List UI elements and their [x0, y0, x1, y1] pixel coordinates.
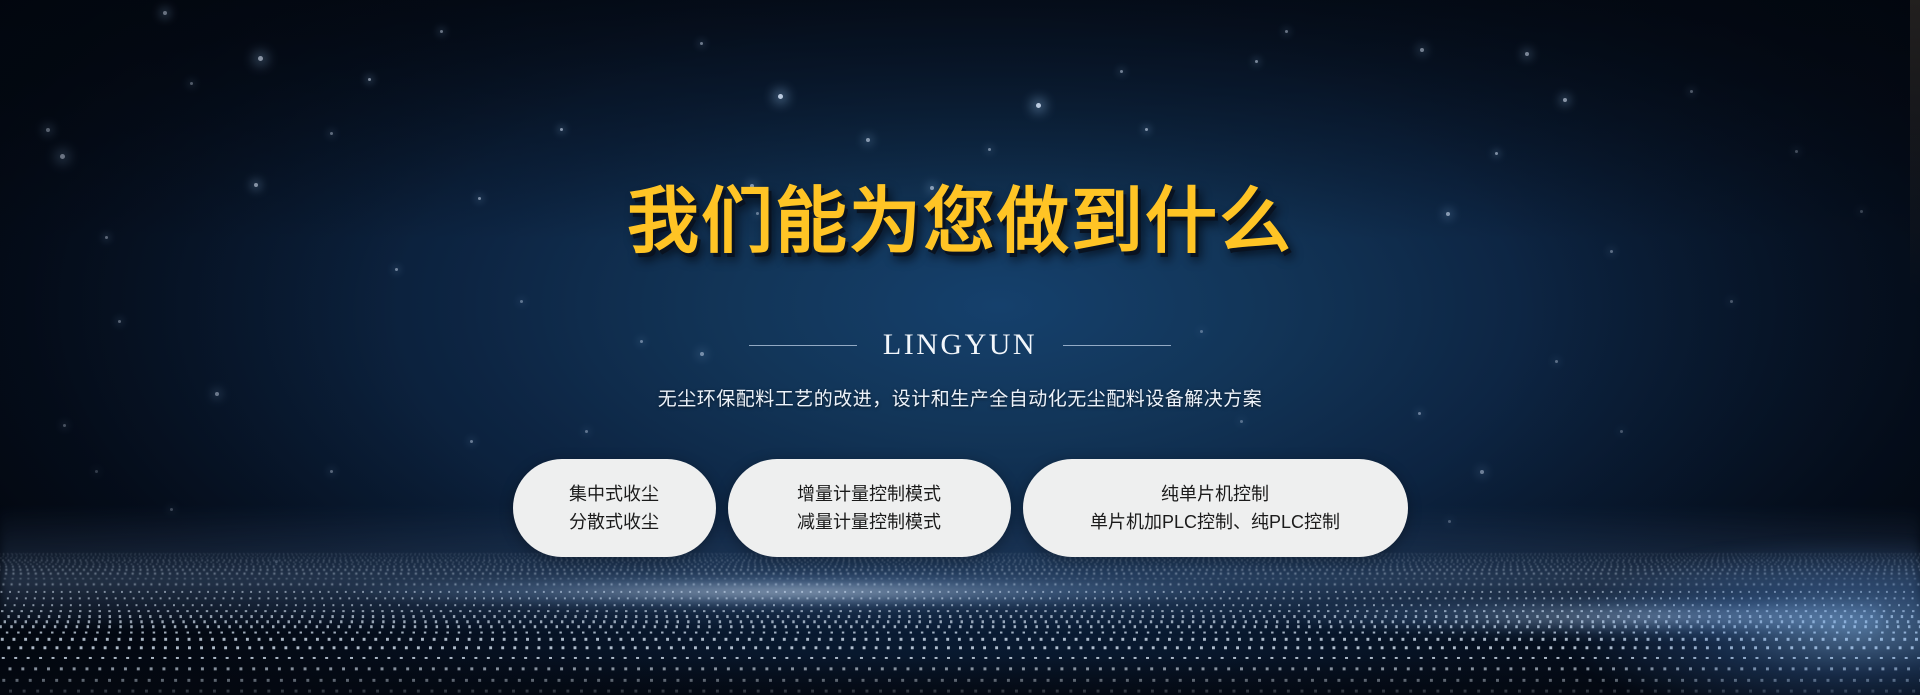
brand-name: LINGYUN — [883, 328, 1037, 362]
card-line: 分散式收尘 — [569, 513, 659, 531]
divider-line-right — [1063, 345, 1171, 346]
feature-card-metering-mode[interactable]: 增量计量控制模式 减量计量控制模式 — [728, 459, 1011, 557]
banner-content: 我们能为您做到什么 LINGYUN 无尘环保配料工艺的改进，设计和生产全自动化无… — [0, 0, 1920, 695]
brand-row: LINGYUN — [749, 328, 1171, 362]
card-line: 纯单片机控制 — [1161, 485, 1269, 503]
tagline: 无尘环保配料工艺的改进，设计和生产全自动化无尘配料设备解决方案 — [658, 384, 1263, 411]
card-line: 单片机加PLC控制、纯PLC控制 — [1090, 513, 1340, 531]
hero-banner: 我们能为您做到什么 LINGYUN 无尘环保配料工艺的改进，设计和生产全自动化无… — [0, 0, 1920, 695]
feature-card-control-system[interactable]: 纯单片机控制 单片机加PLC控制、纯PLC控制 — [1023, 459, 1408, 557]
page-title: 我们能为您做到什么 — [627, 186, 1293, 258]
card-line: 增量计量控制模式 — [797, 485, 941, 503]
feature-card-dust-collection[interactable]: 集中式收尘 分散式收尘 — [513, 459, 716, 557]
card-line: 集中式收尘 — [569, 485, 659, 503]
feature-card-list: 集中式收尘 分散式收尘 增量计量控制模式 减量计量控制模式 纯单片机控制 单片机… — [513, 459, 1408, 557]
card-line: 减量计量控制模式 — [797, 513, 941, 531]
divider-line-left — [749, 345, 857, 346]
